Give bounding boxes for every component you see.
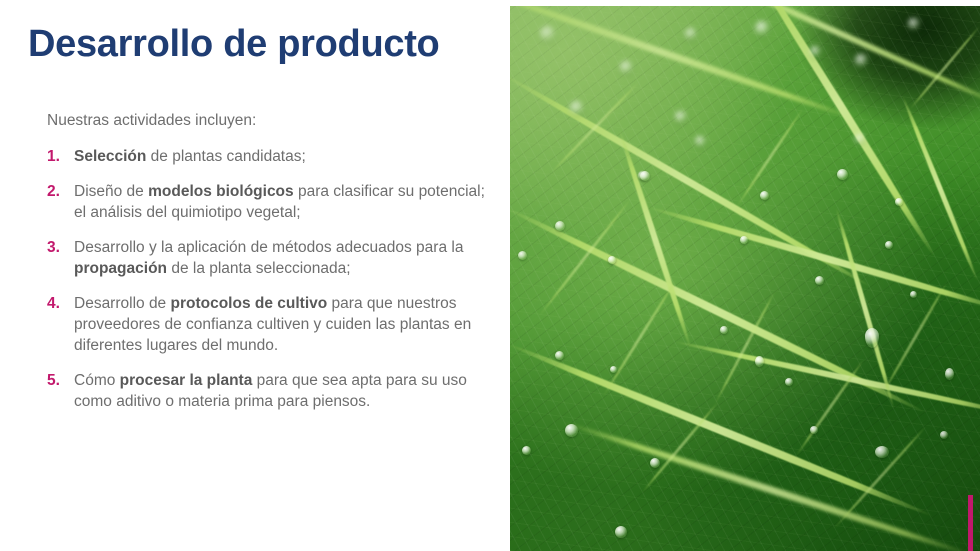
activities-list: 1.Selección de plantas candidatas;2.Dise… [47,146,487,426]
slide: Desarrollo de producto Nuestras activida… [0,0,980,551]
list-item: 3.Desarrollo y la aplicación de métodos … [47,237,487,279]
body-text: Desarrollo de [74,295,171,312]
emphasis-text: Selección [74,148,146,165]
list-item-number: 2. [47,181,74,202]
accent-bar [968,495,973,551]
list-item: 1.Selección de plantas candidatas; [47,146,487,167]
list-item: 5.Cómo procesar la planta para que sea a… [47,370,487,412]
list-item-number: 1. [47,146,74,167]
list-item: 4.Desarrollo de protocolos de cultivo pa… [47,293,487,356]
body-text: Diseño de [74,183,148,200]
body-text: de la planta seleccionada; [167,260,351,277]
list-item-text: Cómo procesar la planta para que sea apt… [74,370,487,412]
body-text: de plantas candidatas; [146,148,305,165]
body-text: Desarrollo y la aplicación de métodos ad… [74,239,463,256]
emphasis-text: procesar la planta [120,372,253,389]
page-title: Desarrollo de producto [28,23,439,66]
leaf-depth-of-field [510,6,980,551]
emphasis-text: modelos biológicos [148,183,294,200]
emphasis-text: protocolos de cultivo [171,295,328,312]
text-panel: Desarrollo de producto Nuestras activida… [0,0,510,551]
list-item-text: Selección de plantas candidatas; [74,146,487,167]
list-item-text: Desarrollo y la aplicación de métodos ad… [74,237,487,279]
list-item-number: 3. [47,237,74,258]
intro-text: Nuestras actividades incluyen: [47,112,256,130]
body-text: Cómo [74,372,120,389]
list-item-text: Diseño de modelos biológicos para clasif… [74,181,487,223]
list-item-number: 4. [47,293,74,314]
list-item: 2.Diseño de modelos biológicos para clas… [47,181,487,223]
list-item-number: 5. [47,370,74,391]
leaf-photo [510,6,980,551]
list-item-text: Desarrollo de protocolos de cultivo para… [74,293,487,356]
emphasis-text: propagación [74,260,167,277]
